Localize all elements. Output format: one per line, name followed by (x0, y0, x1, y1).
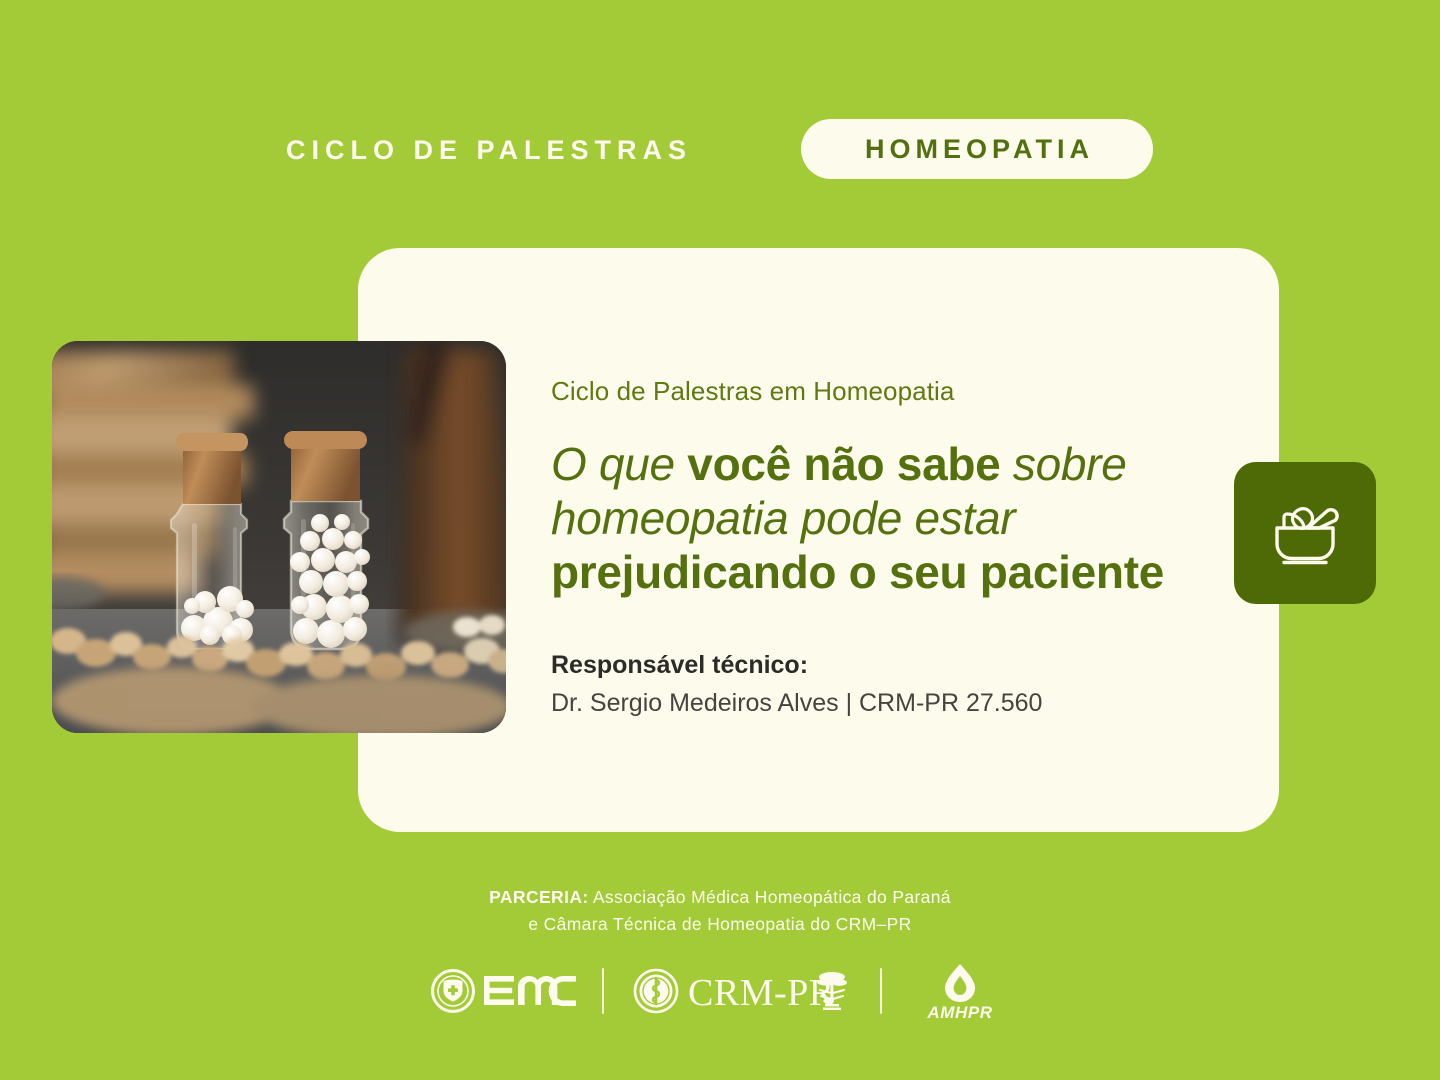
headline-part-3: sobre (1000, 438, 1126, 490)
crm-pr-logo-mark: CRM-PR (630, 965, 854, 1017)
photo-illustration (52, 341, 506, 733)
svg-text:CRM-PR: CRM-PR (688, 972, 835, 1014)
partnership-line-1: PARCERIA: Associação Médica Homeopática … (0, 884, 1440, 911)
headline-part-2: você não sabe (687, 438, 1000, 490)
partnership-text-1: Associação Médica Homeopática do Paraná (589, 887, 951, 907)
logo-divider-1 (602, 968, 604, 1014)
logo-bar: CRM-PR AMHPR (0, 958, 1440, 1024)
header-eyebrow: CICLO DE PALESTRAS (286, 133, 692, 167)
partnership-note: PARCERIA: Associação Médica Homeopática … (0, 884, 1440, 938)
headline-part-5: prejudicando o seu paciente (551, 546, 1164, 598)
homeopathy-vials-photo (52, 341, 506, 733)
mortar-and-pestle-tile (1234, 462, 1376, 604)
card-copy: Ciclo de Palestras em Homeopatia O que v… (551, 374, 1211, 600)
homeopatia-pill-label: HOMEOPATIA (860, 134, 1094, 165)
emc-logo (428, 967, 576, 1015)
headline-part-4: homeopatia pode estar (551, 492, 1015, 544)
crm-pr-logo: CRM-PR (630, 965, 854, 1017)
credits-block: Responsável técnico: Dr. Sergio Medeiros… (551, 648, 1211, 720)
partnership-label: PARCERIA: (489, 887, 589, 907)
page-title: O que você não sabe sobre homeopatia pod… (551, 438, 1211, 600)
headline-part-1: O que (551, 438, 687, 490)
emc-logo-mark (428, 967, 576, 1015)
amhpr-logo-mark: AMHPR (908, 962, 1012, 1020)
homeopatia-pill[interactable]: HOMEOPATIA (801, 119, 1153, 179)
credits-label: Responsável técnico: (551, 648, 1211, 682)
amhpr-logo: AMHPR (908, 962, 1012, 1020)
card-kicker: Ciclo de Palestras em Homeopatia (551, 374, 1211, 408)
partnership-line-2: e Câmara Técnica de Homeopatia do CRM–PR (0, 911, 1440, 938)
poster-canvas: CICLO DE PALESTRAS HOMEOPATIA (0, 0, 1440, 1080)
svg-text:AMHPR: AMHPR (926, 1003, 992, 1020)
logo-divider-2 (880, 968, 882, 1014)
credits-value: Dr. Sergio Medeiros Alves | CRM-PR 27.56… (551, 686, 1211, 720)
mortar-and-pestle-icon (1268, 496, 1342, 570)
